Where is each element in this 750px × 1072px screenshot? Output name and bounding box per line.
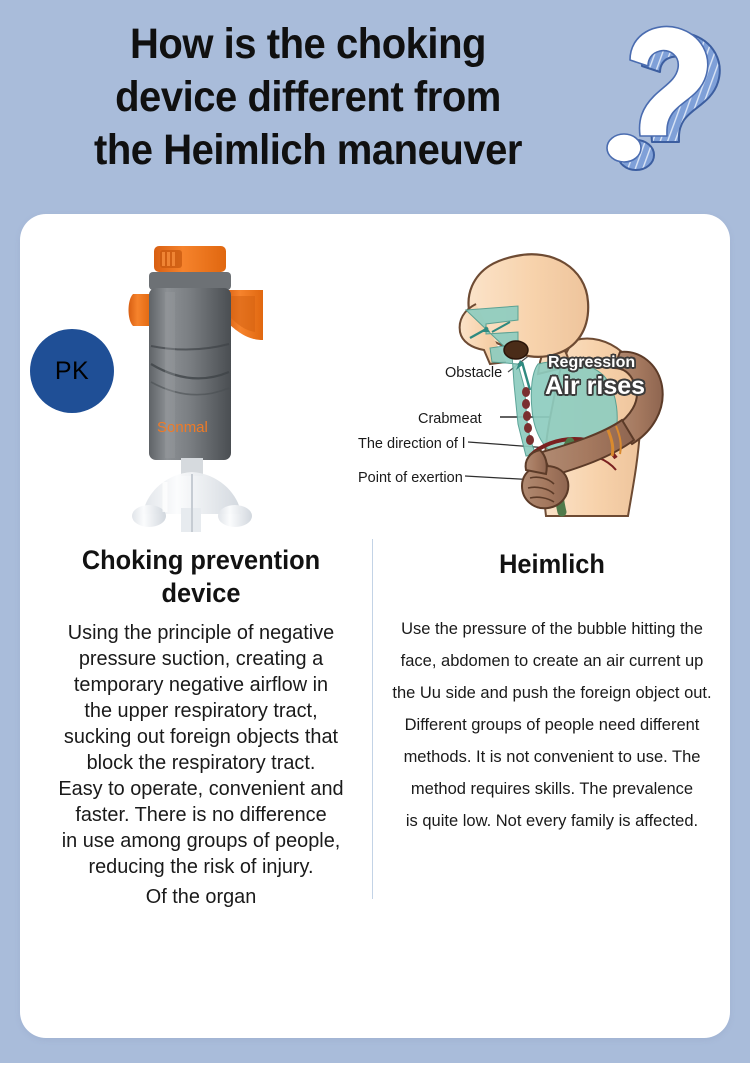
right-body-line-5: methods. It is not convenient to use. Th… — [382, 741, 722, 773]
left-column-heading: Choking prevention device — [46, 544, 356, 610]
diagram-overlay-regression: Regression — [548, 354, 635, 372]
left-body-line-7: Easy to operate, convenient and — [41, 776, 361, 802]
left-body-line-6: block the respiratory tract. — [41, 750, 361, 776]
comparison-card: Sonmal Sonmal PK — [20, 214, 730, 1038]
diagram-label-obstacle: Obstacle — [445, 365, 502, 381]
right-body-line-2: face, abdomen to create an air current u… — [382, 645, 722, 677]
left-heading-line-1: Choking prevention — [46, 544, 356, 577]
right-body-line-6: method requires skills. The prevalence — [382, 773, 722, 805]
left-heading-line-2: device — [46, 577, 356, 610]
pk-badge-label: PK — [55, 357, 89, 386]
left-body-line-10: reducing the risk of injury. — [41, 854, 361, 880]
diagram-label-point-of-exertion: Point of exertion — [358, 470, 463, 486]
page-title: How is the choking device different from… — [38, 18, 577, 177]
pk-badge: PK — [30, 329, 114, 413]
heimlich-diagram: Regression Air rises Obstacle Crabmeat T… — [340, 244, 725, 524]
page-title-line-2: device different from — [38, 71, 577, 124]
left-body-last-line: Of the organ — [41, 884, 361, 910]
right-column-body: Use the pressure of the bubble hitting t… — [382, 613, 722, 837]
right-body-line-1: Use the pressure of the bubble hitting t… — [382, 613, 722, 645]
svg-text:Sonmal: Sonmal — [157, 419, 208, 436]
image-row: Sonmal Sonmal PK — [20, 214, 730, 534]
column-divider — [372, 539, 373, 899]
left-body-line-1: Using the principle of negative — [41, 620, 361, 646]
diagram-label-direction: The direction of l — [358, 436, 465, 452]
diagram-overlay-air-rises: Air rises — [545, 372, 645, 401]
left-body-line-4: the upper respiratory tract, — [41, 698, 361, 724]
page-title-line-1: How is the choking — [38, 18, 577, 71]
right-body-line-4: Different groups of people need differen… — [382, 709, 722, 741]
bottom-white-strip — [0, 1063, 750, 1072]
left-body-line-8: faster. There is no difference — [41, 802, 361, 828]
header: How is the choking device different from… — [0, 0, 750, 200]
infographic-page: How is the choking device different from… — [0, 0, 750, 1072]
left-column-body: Using the principle of negative pressure… — [41, 620, 361, 910]
right-body-line-3: the Uu side and push the foreign object … — [382, 677, 722, 709]
left-body-line-3: temporary negative airflow in — [41, 672, 361, 698]
choking-device-image: Sonmal Sonmal — [105, 236, 315, 532]
question-mark-icon — [600, 18, 745, 183]
right-body-line-7: is quite low. Not every family is affect… — [382, 805, 722, 837]
diagram-label-crabmeat: Crabmeat — [418, 411, 482, 427]
left-body-line-2: pressure suction, creating a — [41, 646, 361, 672]
left-column: Choking prevention device Using the prin… — [36, 544, 366, 910]
left-body-line-5: sucking out foreign objects that — [41, 724, 361, 750]
left-body-line-9: in use among groups of people, — [41, 828, 361, 854]
page-title-line-3: the Heimlich maneuver — [38, 124, 577, 177]
right-column: Heimlich Use the pressure of the bubble … — [382, 544, 722, 837]
right-column-heading: Heimlich — [392, 548, 712, 581]
